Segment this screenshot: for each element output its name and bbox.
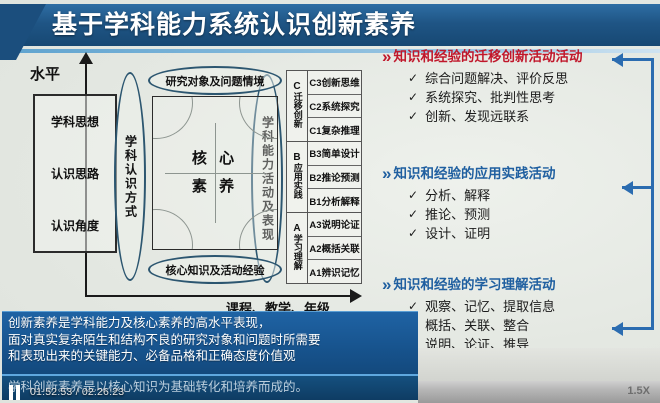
- ability-item: C3创新思维: [308, 71, 361, 95]
- section-transfer-innovation: » 知识和经验的迁移创新活动活动 ✓综合问题解决、评价反思 ✓系统探究、批判性思…: [382, 48, 634, 126]
- level-code-c: C: [292, 82, 302, 92]
- core-line-2: 素 养: [192, 173, 238, 201]
- check-icon: ✓: [408, 186, 418, 205]
- section-title: 知识和经验的应用实践活动: [393, 165, 555, 182]
- ellipse-cognition-mode-label: 学科认识方式: [123, 135, 138, 219]
- level-code-b: B: [292, 153, 302, 163]
- list-item: ✓设计、证明: [408, 224, 634, 243]
- ability-item: B1分析解释: [308, 189, 361, 213]
- list-item-label: 概括、关联、整合: [425, 316, 529, 335]
- connector-vertical-line: [651, 58, 654, 330]
- ability-level-a: A 学习理解: [287, 213, 307, 283]
- list-item: ✓推论、预测: [408, 205, 634, 224]
- section-header: » 知识和经验的迁移创新活动活动: [382, 48, 634, 65]
- x-axis-line: [85, 295, 352, 297]
- ability-level-c: C 迁移创新: [287, 71, 307, 142]
- list-item: ✓系统探究、批判性思考: [408, 88, 634, 107]
- arrow-left-icon: [622, 181, 633, 195]
- subtitle-line: 和表现出来的关键能力、必备品格和正确态度价值观: [8, 348, 412, 365]
- slide-canvas: 基于学科能力系统认识创新素养 水平 课程、教学、年级 学科思想 认识思路 认识角…: [0, 0, 660, 403]
- core-literacy-square: 核 心 素 养: [152, 96, 278, 250]
- core-line-1: 核 心: [192, 145, 238, 173]
- ability-item: B3简单设计: [308, 142, 361, 166]
- check-icon: ✓: [408, 88, 418, 107]
- list-item-label: 观察、记忆、提取信息: [425, 297, 555, 316]
- left-box-cell: 认识角度: [51, 217, 99, 234]
- subtitle-box: 创新素养是学科能力及核心素养的高水平表现， 面对真实复杂陌生和结构不良的研究对象…: [2, 311, 418, 379]
- list-item-label: 综合问题解决、评价反思: [425, 69, 568, 88]
- arrow-left-icon: [612, 53, 623, 67]
- connector-bracket: [612, 58, 658, 348]
- section-application-practice: » 知识和经验的应用实践活动 ✓分析、解释 ✓推论、预测 ✓设计、证明: [382, 165, 634, 243]
- check-icon: ✓: [408, 224, 418, 243]
- section-header: » 知识和经验的学习理解活动: [382, 276, 634, 293]
- list-item-label: 设计、证明: [425, 224, 490, 243]
- timecode-label: 01:52:53 / 02:26:23: [30, 386, 124, 398]
- ellipse-cognition-mode: 学科认识方式: [114, 72, 146, 281]
- ability-item: B2推论预测: [308, 166, 361, 190]
- arrow-left-icon: [612, 322, 623, 336]
- list-item: ✓观察、记忆、提取信息: [408, 297, 634, 316]
- ellipse-core-knowledge: 核心知识及活动经验: [148, 255, 282, 284]
- section-item-list: ✓观察、记忆、提取信息 ✓概括、关联、整合 ✓说明、论证、推导: [408, 297, 634, 354]
- double-chevron-icon: »: [382, 165, 388, 182]
- list-item-label: 创新、发现远联系: [425, 107, 529, 126]
- section-header: » 知识和经验的应用实践活动: [382, 165, 634, 182]
- ability-item-column: C3创新思维 C2系统探究 C1复杂推理 B3简单设计 B2推论预测 B1分析解…: [307, 71, 361, 283]
- list-item-label: 推论、预测: [425, 205, 490, 224]
- double-chevron-icon: »: [382, 48, 388, 65]
- list-item: ✓分析、解释: [408, 186, 634, 205]
- ability-item: C2系统探究: [308, 95, 361, 119]
- check-icon: ✓: [408, 107, 418, 126]
- ability-item: A1辨识记忆: [308, 260, 361, 283]
- video-player-bar[interactable]: 01:52:53 / 02:26:23 1.5X: [0, 381, 660, 403]
- ability-level-table: C 迁移创新 B 应用实践 A 学习理解: [286, 70, 362, 284]
- section-title: 知识和经验的迁移创新活动活动: [393, 48, 582, 65]
- check-icon: ✓: [408, 205, 418, 224]
- ability-item: A2概括关联: [308, 237, 361, 261]
- subtitle-line: 面对真实复杂陌生和结构不良的研究对象和问题时所需要: [8, 332, 412, 349]
- video-slide-screenshot: 基于学科能力系统认识创新素养 水平 课程、教学、年级 学科思想 认识思路 认识角…: [0, 0, 660, 403]
- level-name-a: 学习理解: [292, 234, 302, 270]
- section-item-list: ✓综合问题解决、评价反思 ✓系统探究、批判性思考 ✓创新、发现远联系: [408, 69, 634, 126]
- list-item-label: 系统探究、批判性思考: [425, 88, 555, 107]
- check-icon: ✓: [408, 69, 418, 88]
- page-title: 基于学科能力系统认识创新素养: [52, 4, 416, 46]
- subtitle-line: 创新素养是学科能力及核心素养的高水平表现，: [8, 315, 412, 332]
- ellipse-research-object: 研究对象及问题情境: [148, 66, 282, 95]
- left-box-cell: 认识思路: [51, 165, 99, 182]
- level-name-b: 应用实践: [292, 163, 302, 199]
- slide-bottom-fill: [418, 348, 660, 381]
- list-item: ✓概括、关联、整合: [408, 316, 634, 335]
- list-item: ✓综合问题解决、评价反思: [408, 69, 634, 88]
- ability-framework-diagram: 水平 课程、教学、年级 学科思想 认识思路 认识角度 学科认识方式 学科能力活动…: [0, 52, 380, 312]
- core-literacy-text: 核 心 素 养: [153, 97, 277, 249]
- section-title: 知识和经验的学习理解活动: [393, 276, 555, 293]
- double-chevron-icon: »: [382, 276, 388, 293]
- level-name-c: 迁移创新: [292, 92, 302, 128]
- section-item-list: ✓分析、解释 ✓推论、预测 ✓设计、证明: [408, 186, 634, 243]
- y-axis-label: 水平: [16, 66, 74, 84]
- left-box-cell: 学科思想: [51, 113, 99, 130]
- discipline-cognition-box: 学科思想 认识思路 认识角度: [33, 94, 117, 253]
- ability-item: C1复杂推理: [308, 118, 361, 142]
- level-code-a: A: [292, 224, 302, 234]
- pause-icon[interactable]: [9, 385, 22, 400]
- playback-speed-label[interactable]: 1.5X: [627, 385, 650, 397]
- ability-item: A3说明论证: [308, 213, 361, 237]
- y-axis-arrowhead: [79, 52, 93, 64]
- list-item: ✓创新、发现远联系: [408, 107, 634, 126]
- ability-level-b: B 应用实践: [287, 142, 307, 213]
- list-item-label: 分析、解释: [425, 186, 490, 205]
- section-learning-understanding: » 知识和经验的学习理解活动 ✓观察、记忆、提取信息 ✓概括、关联、整合 ✓说明…: [382, 276, 634, 354]
- ability-level-column: C 迁移创新 B 应用实践 A 学习理解: [287, 71, 307, 283]
